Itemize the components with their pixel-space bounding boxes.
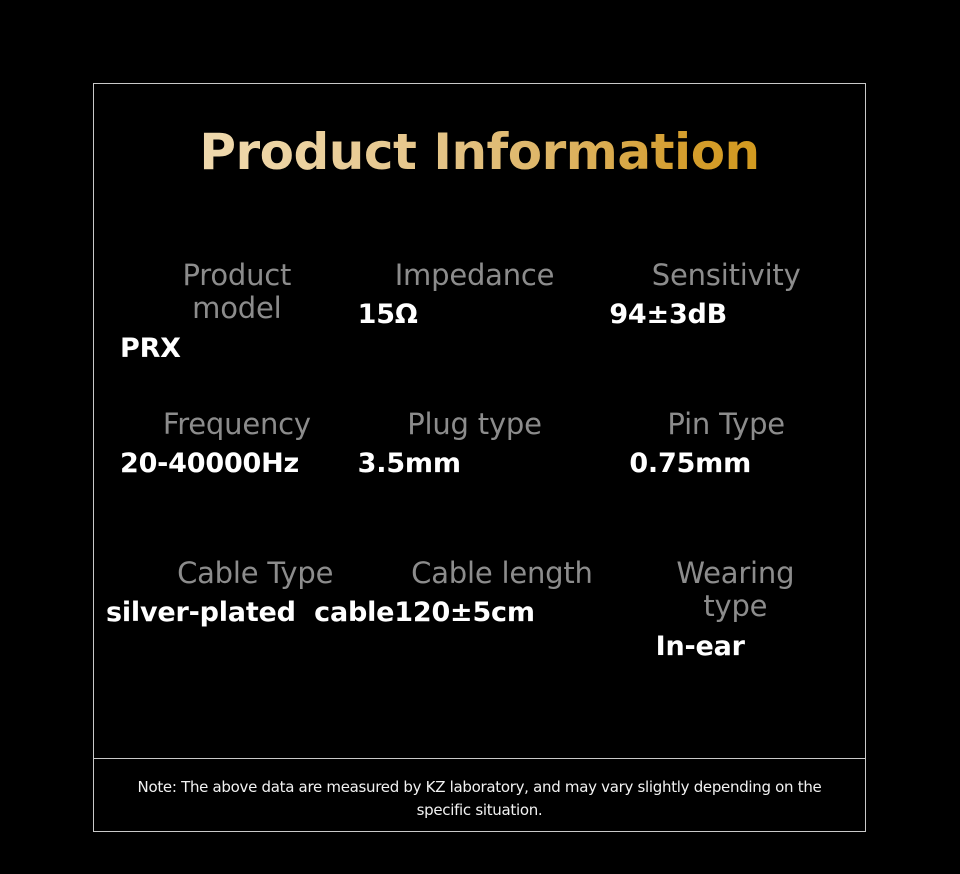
product-information-panel: Product Information Product model PRX Im… [93, 83, 866, 832]
spec-value: In-ear [656, 629, 745, 664]
footer-divider [94, 758, 865, 759]
spec-cell-impedance: Impedance 15Ω [358, 259, 596, 408]
spec-label: Plug type [372, 408, 596, 441]
spec-label: Wearing type [642, 557, 847, 624]
spec-label: Impedance [372, 259, 596, 292]
spec-value: PRX [120, 331, 181, 366]
spec-label: Sensitivity [623, 259, 847, 292]
spec-row: Cable Type silver-plated cable Cable len… [112, 557, 847, 706]
page-title: Product Information [199, 126, 759, 179]
spec-value: 0.75mm [629, 446, 751, 481]
spec-label: Pin Type [623, 408, 847, 441]
spec-row: Product model PRX Impedance 15Ω Sensitiv… [112, 259, 847, 408]
spec-value: silver-plated cable [106, 595, 394, 630]
spec-row: Frequency 20-40000Hz Plug type 3.5mm Pin… [112, 408, 847, 557]
footer-note: Note: The above data are measured by KZ … [94, 776, 865, 823]
spec-label: Cable length [408, 557, 613, 590]
spec-label: Cable Type [134, 557, 394, 590]
spec-cell-sensitivity: Sensitivity 94±3dB [595, 259, 847, 408]
specification-grid: Product model PRX Impedance 15Ω Sensitiv… [94, 259, 865, 706]
spec-value: 20-40000Hz [120, 446, 299, 481]
spec-label: Product model [134, 259, 358, 326]
page-title-container: Product Information [94, 126, 865, 179]
spec-value: 3.5mm [358, 446, 461, 481]
spec-cell-cable-type: Cable Type silver-plated cable [112, 557, 394, 706]
spec-cell-product-model: Product model PRX [112, 259, 358, 408]
spec-value: 15Ω [358, 297, 418, 332]
spec-cell-frequency: Frequency 20-40000Hz [112, 408, 358, 557]
spec-label: Frequency [134, 408, 358, 441]
spec-value: 94±3dB [609, 297, 727, 332]
spec-cell-plug-type: Plug type 3.5mm [358, 408, 596, 557]
spec-value: 120±5cm [394, 595, 535, 630]
spec-cell-wearing-type: Wearing type In-ear [614, 557, 847, 706]
spec-cell-pin-type: Pin Type 0.75mm [595, 408, 847, 557]
spec-cell-cable-length: Cable length 120±5cm [394, 557, 613, 706]
